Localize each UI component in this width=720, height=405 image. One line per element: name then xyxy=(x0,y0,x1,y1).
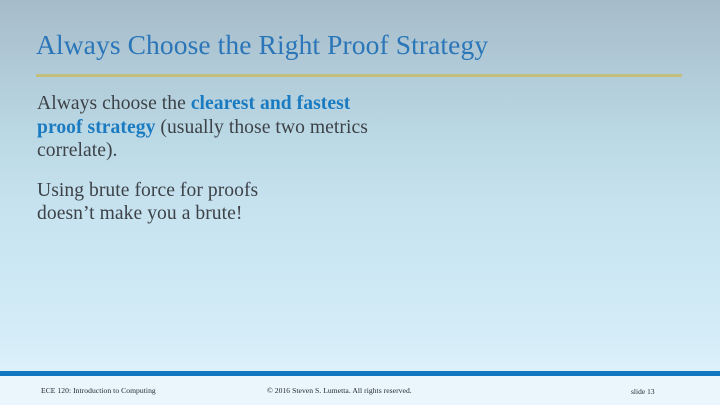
paragraph1-line1-text: Always choose the xyxy=(37,93,191,114)
title-block: Always Choose the Right Proof Strategy xyxy=(36,30,684,61)
footer-course-label: ECE 120: Introduction to Computing xyxy=(41,386,156,395)
page-title: Always Choose the Right Proof Strategy xyxy=(36,30,684,61)
paragraph1-line2: proof strategy (usually those two metric… xyxy=(37,116,647,140)
paragraph1-highlight-a: clearest and fastest xyxy=(191,93,351,114)
footer-slide-number: slide 13 xyxy=(631,387,655,396)
paragraph-proof-strategy: Always choose the clearest and fastest p… xyxy=(37,92,647,163)
paragraph1-line2-text: (usually those two metrics xyxy=(155,117,368,138)
slide-canvas: Always Choose the Right Proof Strategy A… xyxy=(0,0,720,405)
paragraph-brute-force: Using brute force for proofs doesn’t mak… xyxy=(37,179,647,226)
body-content: Always choose the clearest and fastest p… xyxy=(37,92,647,226)
paragraph1-line1: Always choose the clearest and fastest xyxy=(37,92,647,116)
footer-copyright-label: © 2016 Steven S. Lumetta. All rights res… xyxy=(267,386,412,395)
paragraph2-line2: doesn’t make you a brute! xyxy=(37,202,647,226)
footer-inner: ECE 120: Introduction to Computing © 201… xyxy=(0,376,720,405)
paragraph1-highlight-b: proof strategy xyxy=(37,117,155,138)
title-divider-rule xyxy=(36,74,682,77)
paragraph1-line3: correlate). xyxy=(37,139,647,163)
slide-footer: ECE 120: Introduction to Computing © 201… xyxy=(0,376,720,405)
paragraph2-line1: Using brute force for proofs xyxy=(37,179,647,203)
